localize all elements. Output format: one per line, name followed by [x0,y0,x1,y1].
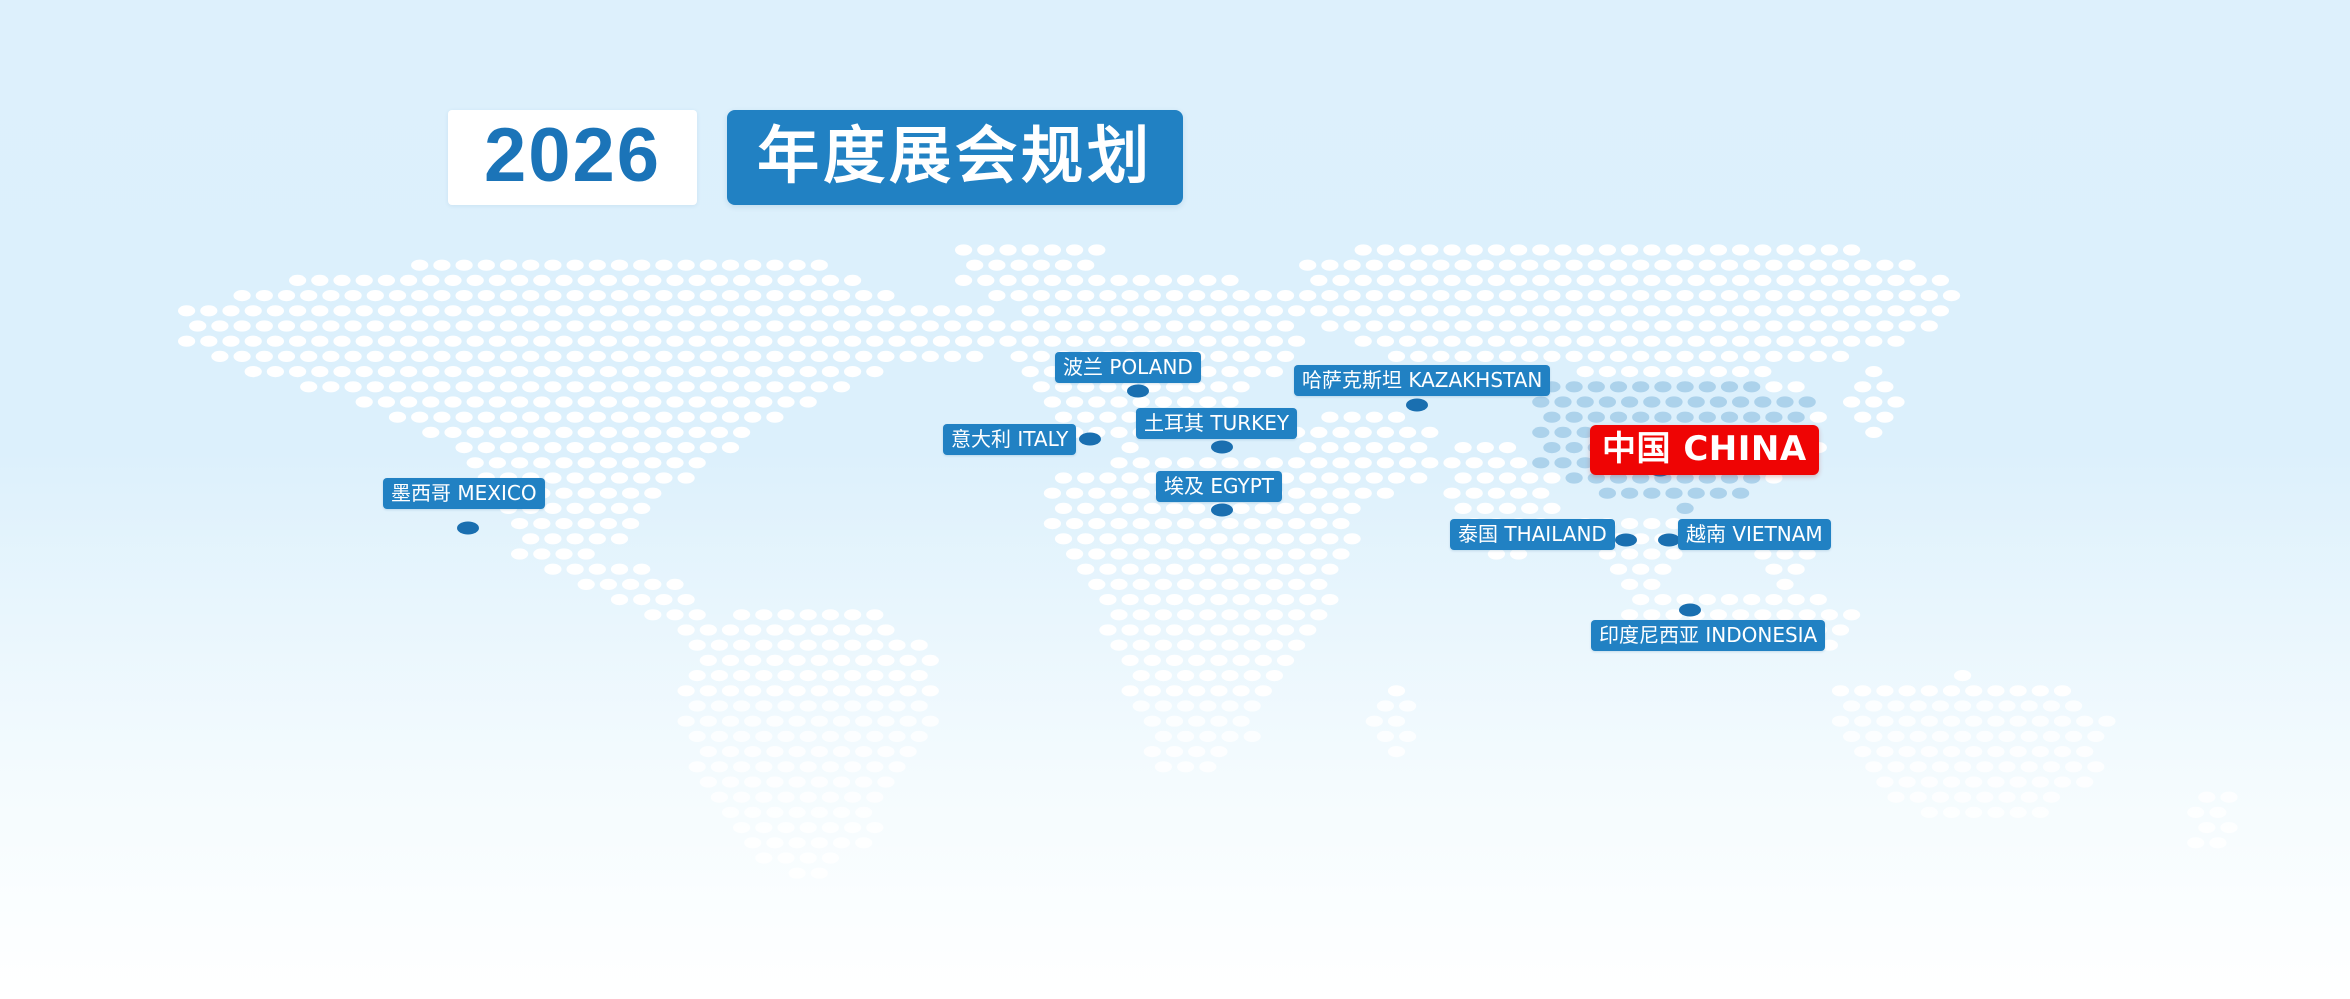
map-pin-dot-kazakhstan[interactable] [1406,399,1428,412]
map-label-thailand[interactable]: 泰国 THAILAND [1450,519,1615,550]
map-pin-dot-egypt[interactable] [1211,504,1233,517]
year-badge: 2026 [448,110,697,205]
map-pin-dot-vietnam[interactable] [1658,534,1680,547]
map-label-indonesia[interactable]: 印度尼西亚 INDONESIA [1591,620,1825,651]
page-title: 年度展会规划 [757,120,1153,191]
infographic-canvas: 2026 年度展会规划 墨西哥 MEXICO意大利 ITALY波兰 POLAND… [0,0,2350,999]
map-label-italy[interactable]: 意大利 ITALY [943,424,1076,455]
map-label-vietnam[interactable]: 越南 VIETNAM [1678,519,1831,550]
map-pin-dot-poland[interactable] [1127,385,1149,398]
map-label-mexico[interactable]: 墨西哥 MEXICO [383,478,545,509]
title-badge: 年度展会规划 [727,110,1183,205]
map-pin-dot-turkey[interactable] [1211,441,1233,454]
map-pin-dot-mexico[interactable] [457,522,479,535]
map-pin-dot-italy[interactable] [1079,433,1101,446]
year-text: 2026 [484,118,661,194]
map-label-poland[interactable]: 波兰 POLAND [1055,352,1201,383]
map-label-china[interactable]: 中国 CHINA [1590,425,1819,475]
title-block: 2026 年度展会规划 [448,110,1183,205]
map-pin-dot-thailand[interactable] [1615,534,1637,547]
map-label-kazakhstan[interactable]: 哈萨克斯坦 KAZAKHSTAN [1294,365,1550,396]
map-label-turkey[interactable]: 土耳其 TURKEY [1136,408,1297,439]
map-label-egypt[interactable]: 埃及 EGYPT [1156,471,1282,502]
map-pin-dot-indonesia[interactable] [1679,604,1701,617]
